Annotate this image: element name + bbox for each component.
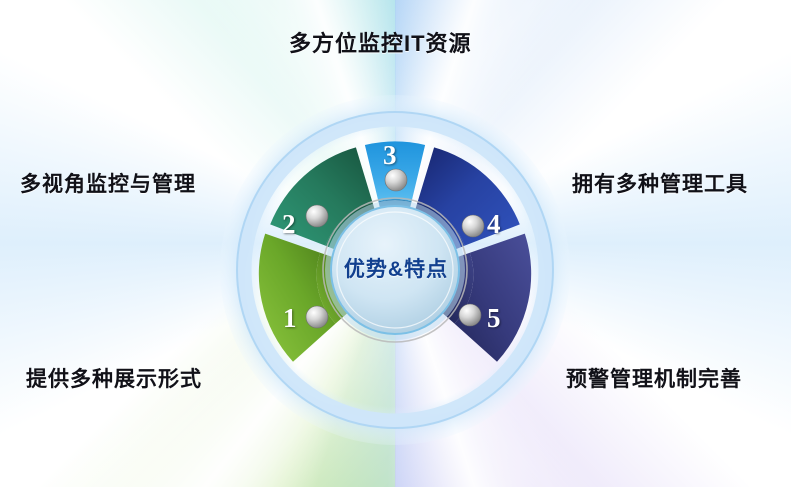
label-top: 多方位监控IT资源 — [289, 26, 472, 58]
label-right-bottom: 预警管理机制完善 — [566, 363, 742, 393]
diagram-canvas: 1 2 3 4 5 优势&特点 多方位监控IT资源 多视角监控与管理 拥有多种管… — [0, 0, 791, 487]
ring-diagram-svg — [0, 0, 791, 487]
label-left-top: 多视角监控与管理 — [20, 168, 196, 198]
node-marker-5[interactable] — [459, 304, 481, 326]
node-marker-3[interactable] — [385, 169, 407, 191]
node-marker-2[interactable] — [306, 205, 328, 227]
node-marker-1[interactable] — [306, 306, 328, 328]
core-circle — [331, 206, 459, 334]
label-right-top: 拥有多种管理工具 — [572, 168, 748, 198]
node-marker-4[interactable] — [462, 215, 484, 237]
label-left-bottom: 提供多种展示形式 — [26, 363, 202, 393]
